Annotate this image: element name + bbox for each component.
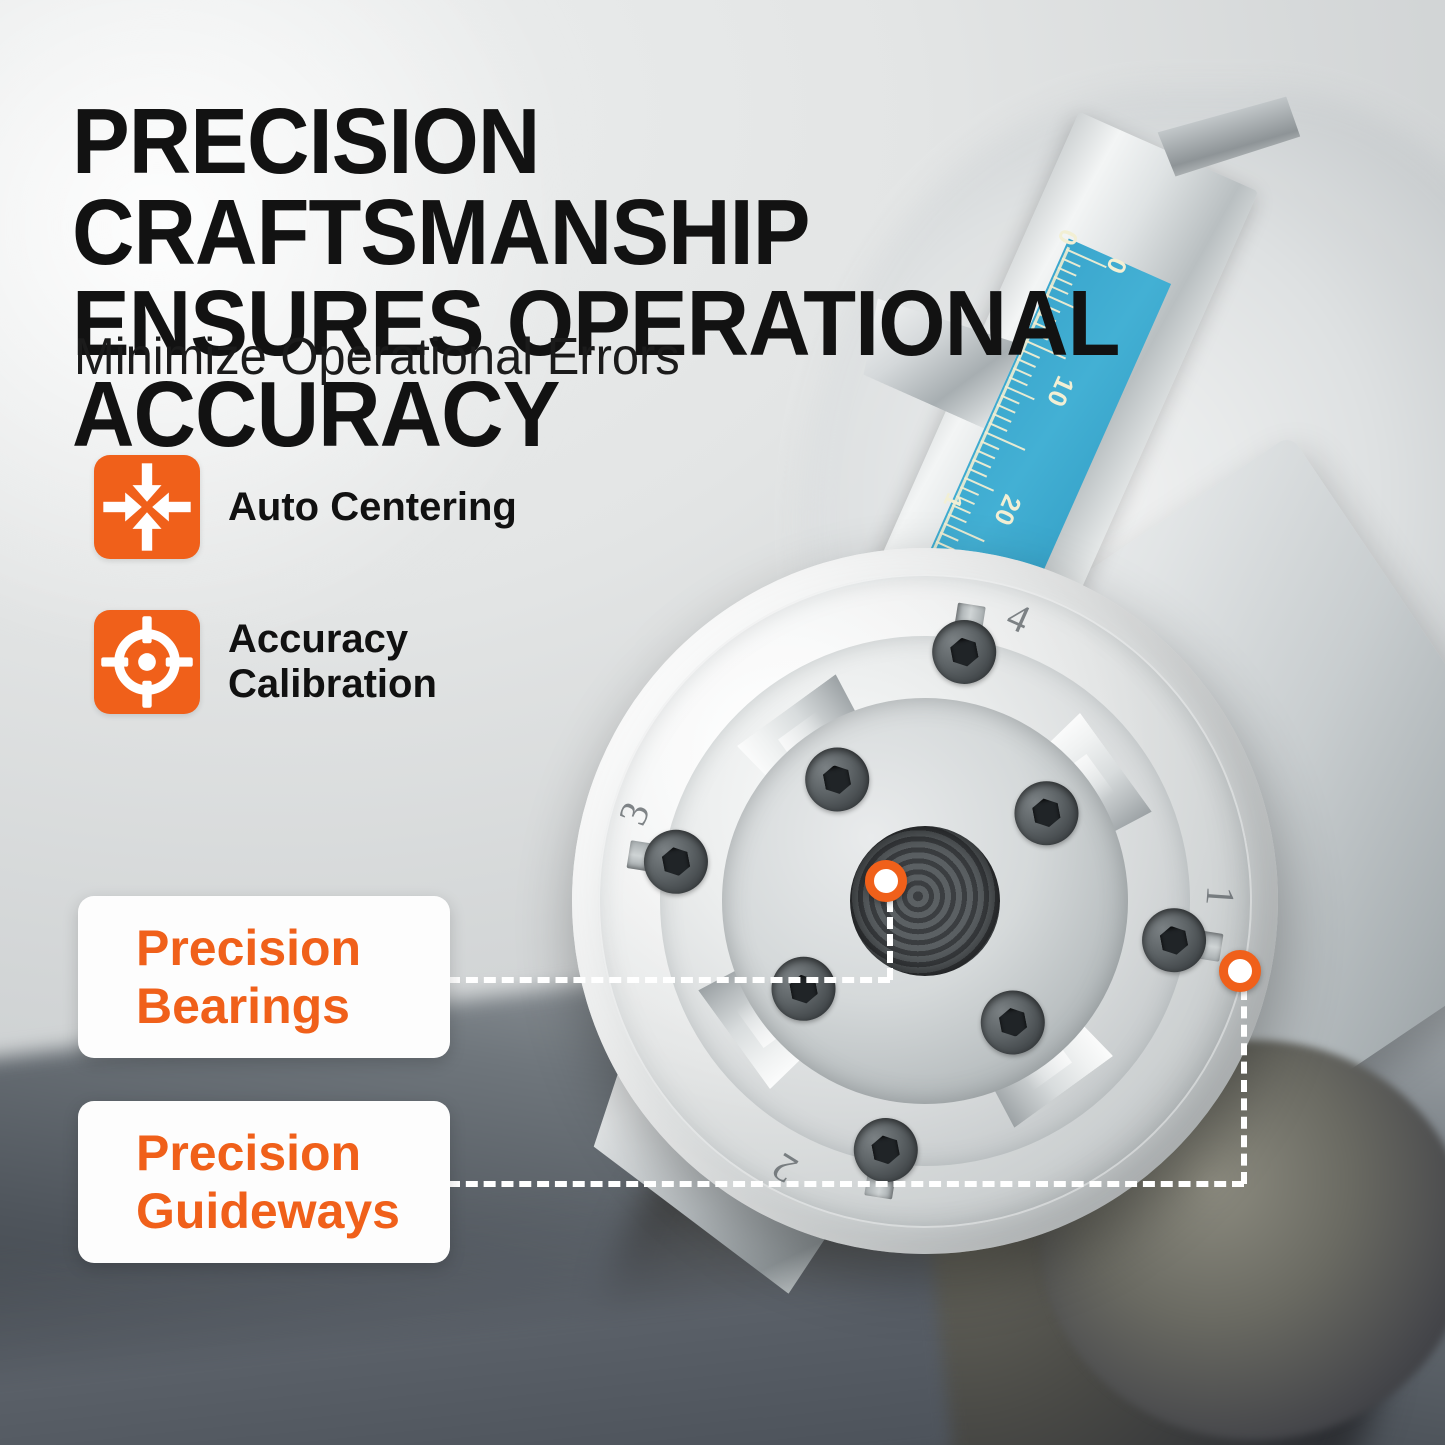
headline-line-1: PRECISION CRAFTSMANSHIP: [72, 89, 809, 284]
leader-line-bearings-vertical: [887, 900, 893, 980]
caliper-tick: [960, 486, 979, 496]
chuck-jaw-number: 1: [1197, 884, 1245, 907]
callout-marker-bearings: [865, 860, 907, 902]
feature-accuracy-calibration: Accuracy Calibration: [94, 610, 437, 714]
feature-label: Auto Centering: [228, 485, 517, 530]
auto-centering-arrows-icon: [94, 455, 200, 559]
caliper-tick: [968, 468, 987, 478]
feature-label: Accuracy Calibration: [228, 617, 437, 707]
callout-label: Precision Bearings: [136, 919, 361, 1035]
crosshair-target-icon: [94, 610, 200, 714]
leader-line-guideways-horizontal: [448, 1181, 1244, 1187]
leader-line-guideways-vertical: [1241, 988, 1247, 1184]
callout-label: Precision Guideways: [136, 1124, 400, 1240]
four-jaw-chuck: 1234: [511, 487, 1339, 1315]
page-subtitle: Minimize Operational Errors: [74, 327, 680, 387]
callout-card-guideways: Precision Guideways: [78, 1101, 450, 1263]
callout-marker-guideways: [1219, 950, 1261, 992]
leader-line-bearings-horizontal: [448, 977, 890, 983]
page-title: PRECISION CRAFTSMANSHIP ENSURES OPERATIO…: [72, 96, 1281, 461]
feature-auto-centering: Auto Centering: [94, 455, 517, 559]
caliper-tick: [948, 513, 967, 523]
callout-card-bearings: Precision Bearings: [78, 896, 450, 1058]
product-feature-poster: 01020304050012 1234 PRECISION CRAFTSMANS…: [0, 0, 1445, 1445]
